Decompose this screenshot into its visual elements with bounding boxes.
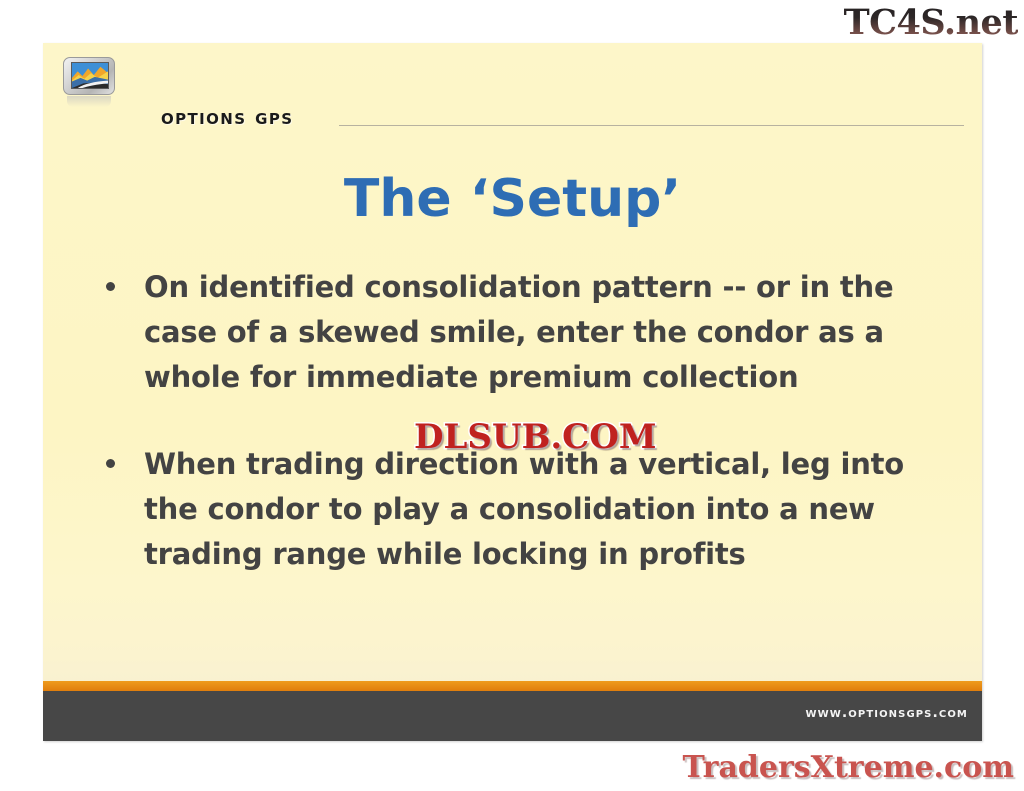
footer-website-label: www.OptionsGPS.com [805, 705, 968, 721]
slide-footer: www.OptionsGPS.com [43, 691, 982, 741]
header-divider [339, 125, 964, 126]
gps-device-icon [63, 57, 115, 97]
gps-device-screen [71, 62, 109, 89]
list-item-text: When trading direction with a vertical, … [144, 447, 904, 571]
presentation-slide: Options GPS The ‘Setup’ On identified co… [43, 43, 982, 741]
gps-device-reflection [67, 96, 111, 107]
page-title: The ‘Setup’ [43, 169, 982, 229]
gps-screen-graphic [72, 63, 108, 88]
bullet-dot-icon [106, 459, 115, 468]
watermark-tc4s: TC4S.net [844, 2, 1018, 43]
list-item-text: On identified consolidation pattern -- o… [144, 270, 893, 394]
list-item: On identified consolidation pattern -- o… [98, 265, 958, 400]
list-item: When trading direction with a vertical, … [98, 442, 958, 577]
slide-header: Options GPS [43, 43, 982, 101]
bullet-dot-icon [106, 282, 115, 291]
watermark-tradersxtreme: TradersXtreme.com [683, 750, 1014, 785]
brand-wordmark: Options GPS [161, 105, 294, 129]
accent-divider [43, 681, 982, 691]
watermark-dlsub: DLSUB.COM [414, 417, 656, 457]
